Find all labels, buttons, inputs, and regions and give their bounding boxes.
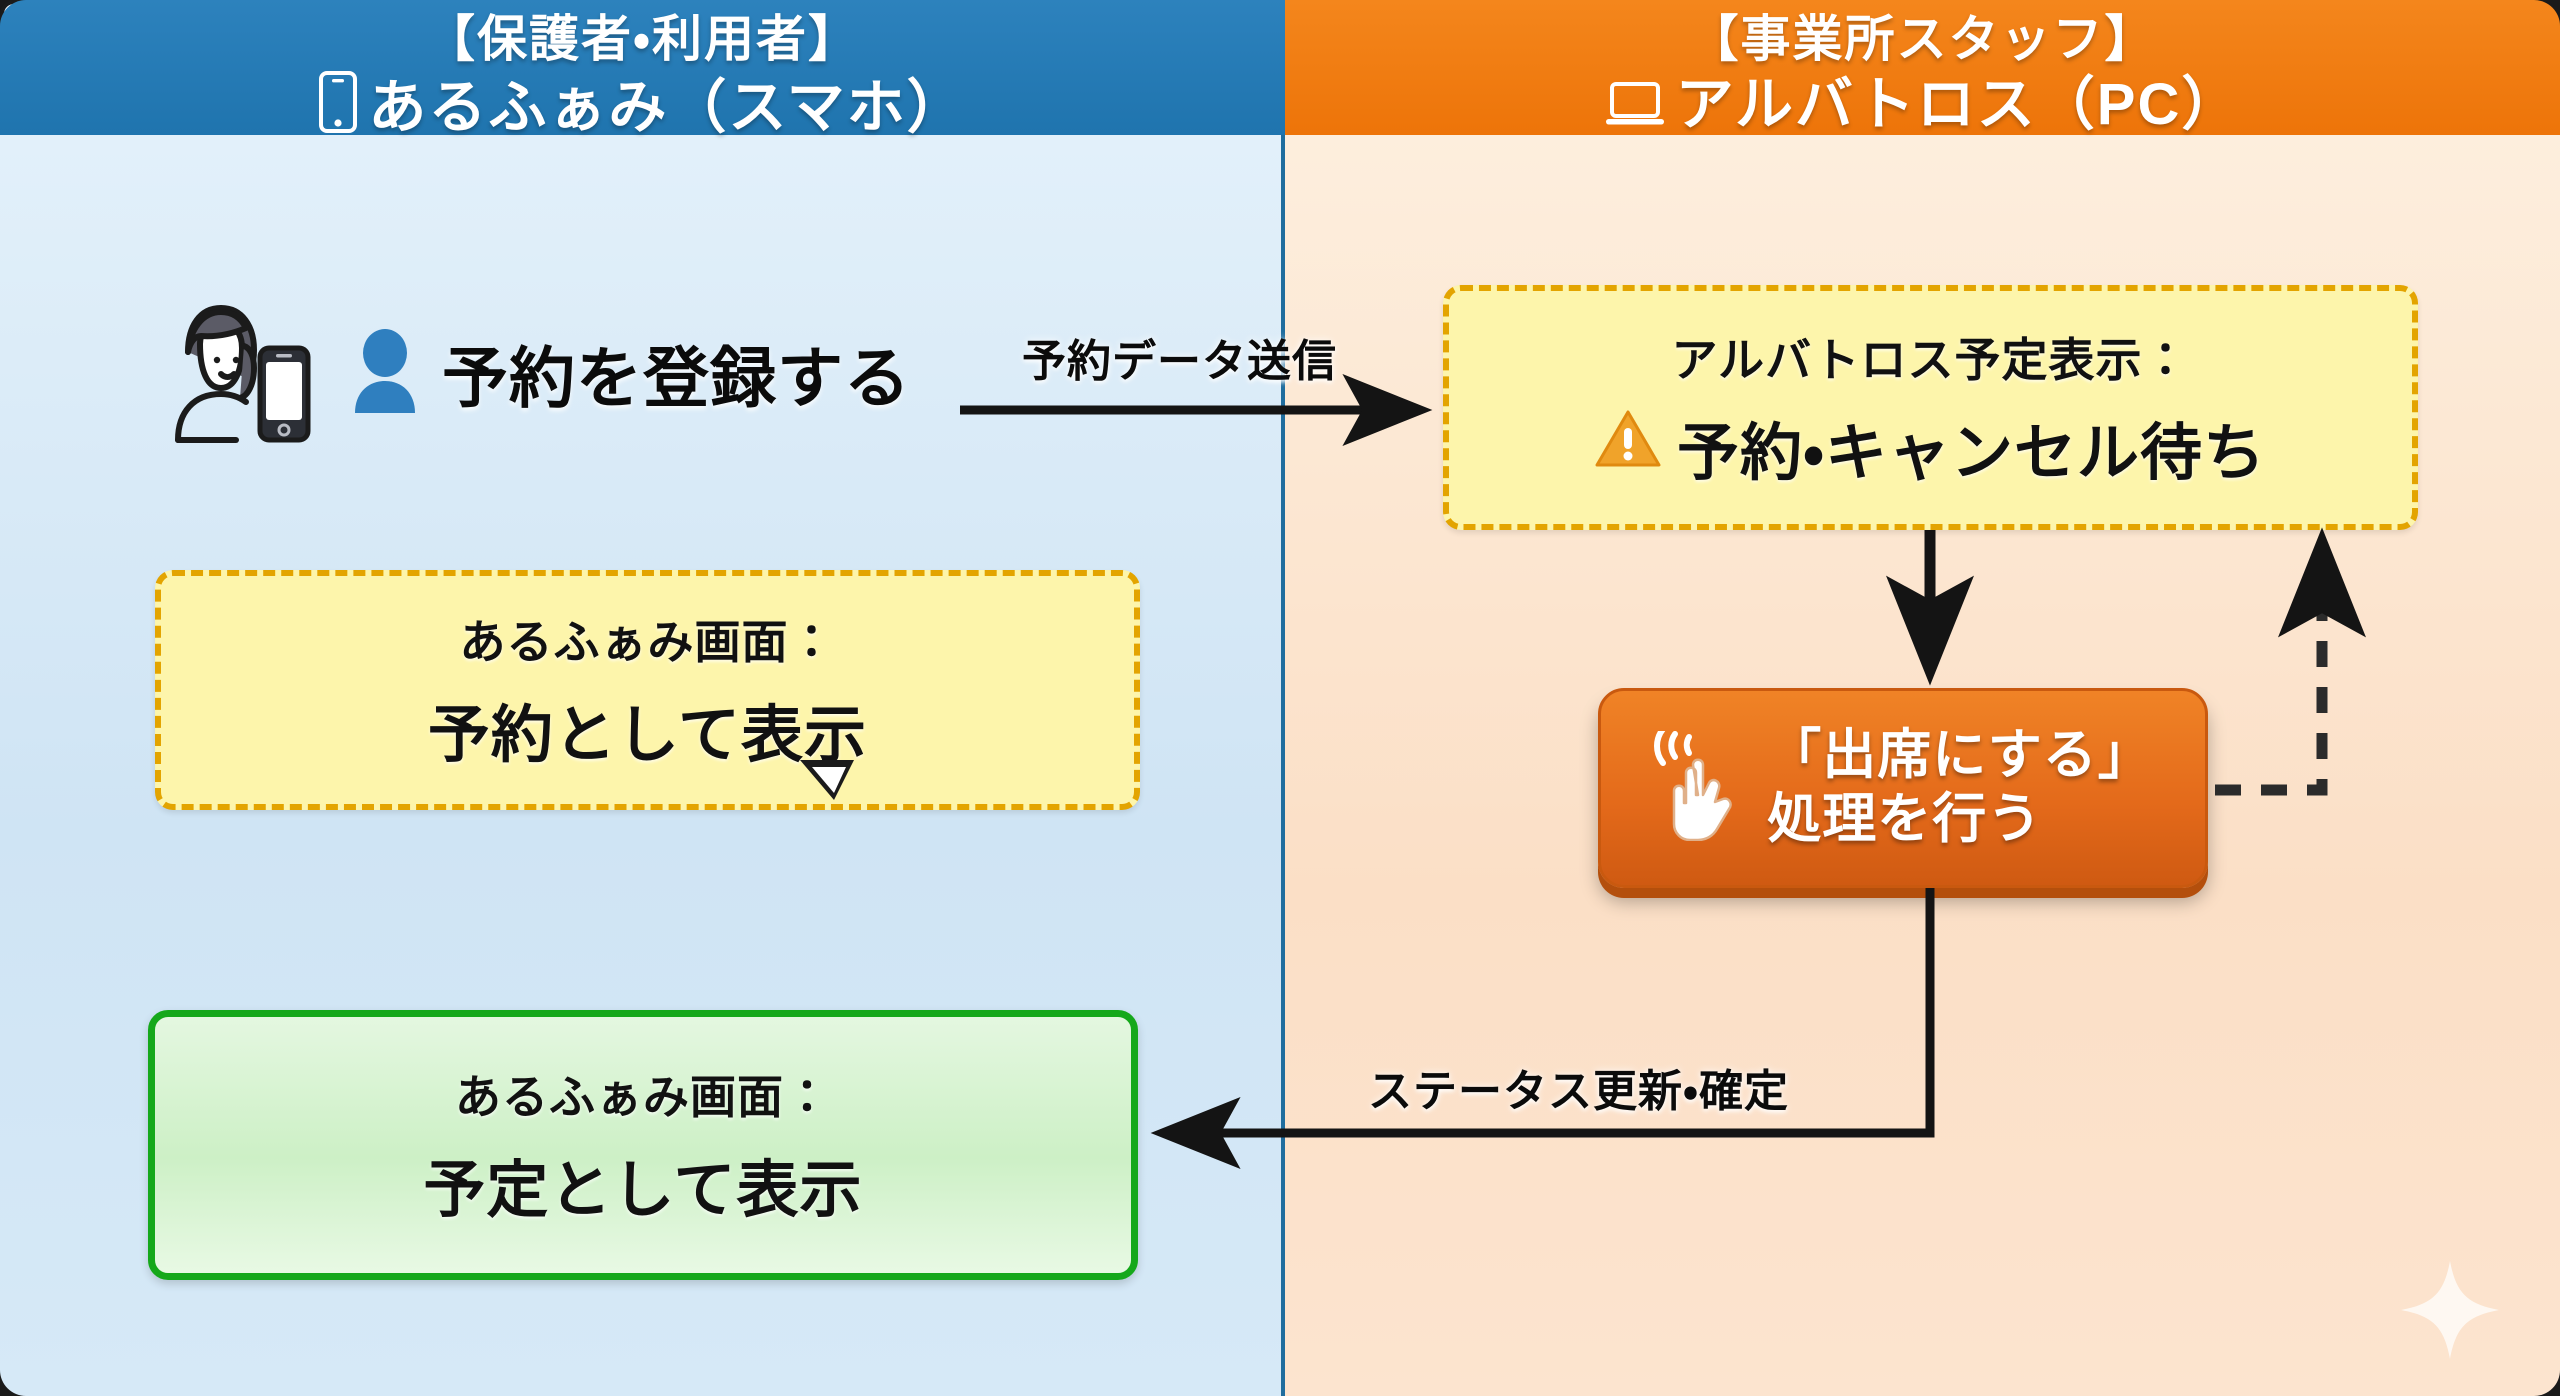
user-avatar-icon — [350, 327, 420, 418]
panel-right-role: 【事業所スタッフ】 — [1285, 10, 2560, 69]
sparkle-icon — [2395, 1255, 2505, 1370]
flow-diagram: 【保護者・利用者】 あるふぁみ（スマホ） 【事業所スタッフ】 — [0, 0, 2560, 1396]
register-reservation-label: 予約を登録する — [442, 325, 911, 421]
panel-left-header: 【保護者・利用者】 あるふぁみ（スマホ） — [0, 0, 1285, 135]
panel-left-title: 【保護者・利用者】 あるふぁみ（スマホ） — [0, 10, 1285, 148]
panel-left-role: 【保護者・利用者】 — [0, 10, 1285, 69]
mark-attendance-line-1: 「出席にする」 — [1767, 724, 2153, 788]
albatross-waiting-status-row: 予約・キャンセル待ち — [1595, 402, 2266, 492]
alfami-pending-box: あるふぁみ画面： 予約として表示 — [155, 570, 1140, 810]
register-reservation-action: 予約を登録する — [148, 290, 911, 455]
panel-right-app: アルバトロス（PC） — [1285, 71, 2560, 145]
panel-right-header: 【事業所スタッフ】 アルバトロス（PC） — [1285, 0, 2560, 135]
mark-attendance-label: 「出席にする」 処理を行う — [1767, 724, 2153, 851]
panel-left-app-label: あるふぁみ（スマホ） — [368, 75, 966, 140]
alfami-confirmed-title: あるふぁみ画面： — [455, 1061, 831, 1127]
albatross-waiting-title: アルバトロス予定表示： — [1672, 324, 2190, 390]
albatross-waiting-box: アルバトロス予定表示： 予約・キャンセル待ち — [1443, 285, 2418, 530]
arrow-label-status-update: ステータス更新・確定 — [1368, 1055, 1789, 1119]
laptop-icon — [1604, 77, 1666, 145]
panel-right-app-label: アルバトロス（PC） — [1676, 72, 2242, 137]
warning-triangle-icon — [1595, 409, 1661, 484]
alfami-confirmed-box: あるふぁみ画面： 予定として表示 — [148, 1010, 1138, 1280]
mark-attendance-button[interactable]: 「出席にする」 処理を行う — [1598, 688, 2208, 888]
arrow-label-send-reservation-data: 予約データ送信 — [1022, 325, 1337, 389]
alfami-pending-title: あるふぁみ画面： — [460, 606, 836, 672]
smartphone-icon — [318, 71, 358, 148]
panel-left-app: あるふぁみ（スマホ） — [0, 71, 1285, 148]
tap-hand-icon — [1653, 731, 1749, 846]
woman-with-phone-icon — [148, 290, 328, 455]
alfami-confirmed-status: 予定として表示 — [423, 1139, 862, 1229]
panel-right-title: 【事業所スタッフ】 アルバトロス（PC） — [1285, 10, 2560, 145]
callout-tail — [800, 760, 854, 800]
mark-attendance-line-2: 処理を行う — [1767, 788, 2153, 852]
albatross-waiting-status: 予約・キャンセル待ち — [1677, 402, 2266, 492]
